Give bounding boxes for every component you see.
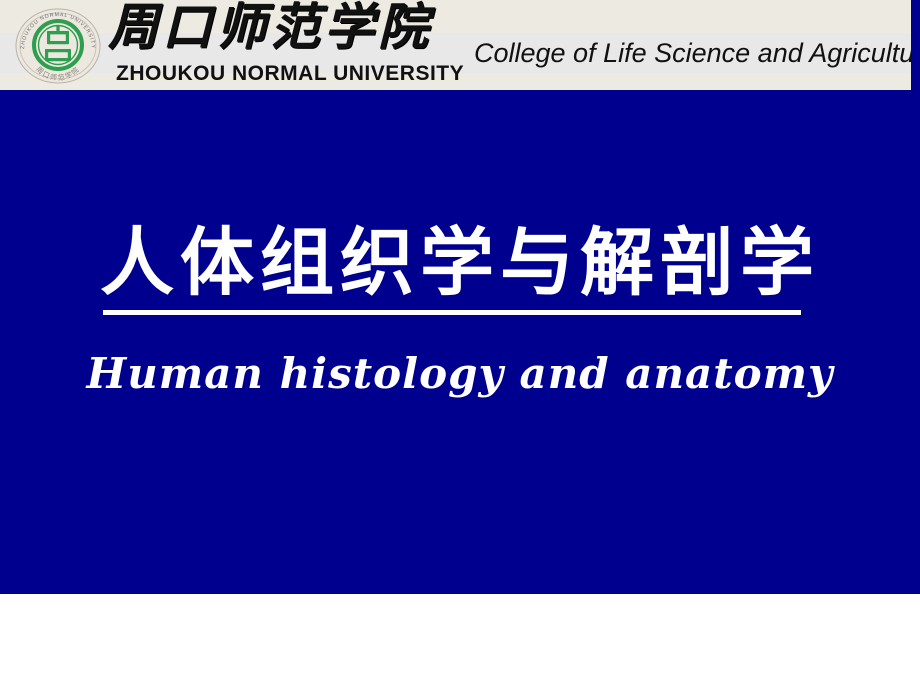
university-name-en: ZHOUKOU NORMAL UNIVERSITY xyxy=(116,62,476,86)
slide-header: ZHOUKOU NORMAL UNIVERSITY 周口师范学院 周口师范学院 … xyxy=(0,0,920,90)
presentation-slide: ZHOUKOU NORMAL UNIVERSITY 周口师范学院 周口师范学院 … xyxy=(0,0,920,690)
slide-title-cn: 人体组织学与解剖学 xyxy=(0,218,920,310)
college-name: College of Life Science and Agriculture xyxy=(474,34,920,72)
university-name-cn: 周口师范学院 xyxy=(108,0,478,58)
slide-subtitle-en: Human histology and anatomy xyxy=(0,348,920,400)
slide-title-underline xyxy=(103,310,801,315)
university-seal-icon: ZHOUKOU NORMAL UNIVERSITY 周口师范学院 xyxy=(12,6,104,86)
slide-footer xyxy=(0,594,920,690)
slide-body: 人体组织学与解剖学 Human histology and anatomy xyxy=(0,90,920,594)
header-accent-strip xyxy=(911,0,920,90)
